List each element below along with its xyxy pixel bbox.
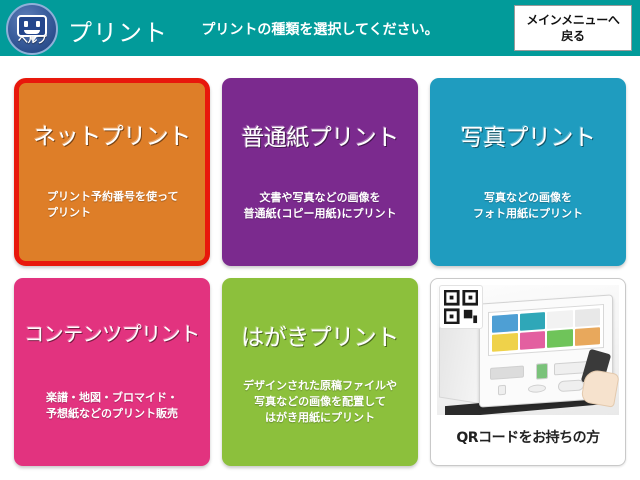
tile-plain-paper-print[interactable]: 普通紙プリント 文書や写真などの画像を 普通紙(コピー用紙)にプリント bbox=[222, 78, 418, 266]
back-button-line2: 戻る bbox=[561, 28, 584, 44]
kiosk-button bbox=[528, 384, 546, 393]
tile-content-print[interactable]: コンテンツプリント 楽譜・地図・ブロマイド・ 予想紙などのプリント販売 bbox=[14, 278, 210, 466]
tile-description: 文書や写真などの画像を 普通紙(コピー用紙)にプリント bbox=[230, 190, 410, 222]
tile-desc-line2: 予想紙などのプリント販売 bbox=[22, 406, 202, 422]
kiosk-screen-button bbox=[492, 314, 518, 333]
tile-description: 写真などの画像を フォト用紙にプリント bbox=[438, 190, 618, 222]
kiosk-screen-button bbox=[492, 333, 518, 352]
tile-qr-code-entry[interactable]: QRコードをお持ちの方 bbox=[430, 278, 626, 466]
tile-title: 普通紙プリント bbox=[222, 118, 418, 152]
tile-desc-line2: 普通紙(コピー用紙)にプリント bbox=[230, 206, 410, 222]
kiosk-button bbox=[498, 385, 506, 396]
kiosk-screen-button bbox=[547, 329, 573, 348]
tile-desc-line3: はがき用紙にプリント bbox=[230, 410, 410, 426]
tile-postcard-print[interactable]: はがきプリント デザインされた原稿ファイルや 写真などの画像を配置して はがき用… bbox=[222, 278, 418, 466]
kiosk-card-reader bbox=[536, 363, 548, 380]
tile-description: デザインされた原稿ファイルや 写真などの画像を配置して はがき用紙にプリント bbox=[230, 378, 410, 426]
kiosk-screen-button bbox=[520, 312, 546, 331]
tile-desc-line1: 文書や写真などの画像を bbox=[230, 190, 410, 206]
kiosk-screen-button bbox=[575, 327, 601, 346]
hand-holding-phone bbox=[577, 351, 617, 405]
tile-title: はがきプリント bbox=[222, 318, 418, 352]
back-button-line1: メインメニューへ bbox=[526, 12, 619, 28]
kiosk-screen-button bbox=[547, 310, 573, 329]
tile-title: 写真プリント bbox=[430, 118, 626, 152]
app-header: ヘルプ プリント プリントの種類を選択してください。 メインメニューへ 戻る bbox=[0, 0, 640, 58]
kiosk-touchscreen bbox=[488, 304, 604, 356]
tile-description: プリント予約番号を使って プリント bbox=[27, 189, 197, 221]
hand-shape bbox=[580, 368, 619, 407]
tile-desc-line2: 写真などの画像を配置して bbox=[230, 394, 410, 410]
kiosk-screen-button bbox=[575, 308, 601, 327]
tile-net-print[interactable]: ネットプリント プリント予約番号を使って プリント bbox=[14, 78, 210, 266]
tile-desc-line1: プリント予約番号を使って bbox=[47, 189, 197, 205]
tile-desc-line1: 写真などの画像を bbox=[438, 190, 618, 206]
qr-card-caption: QRコードをお持ちの方 bbox=[431, 427, 625, 447]
kiosk-screen-button bbox=[520, 331, 546, 350]
tile-title: コンテンツプリント bbox=[14, 318, 210, 347]
qr-code-icon bbox=[439, 285, 483, 329]
tile-description: 楽譜・地図・ブロマイド・ 予想紙などのプリント販売 bbox=[22, 390, 202, 422]
tile-desc-line2: プリント bbox=[47, 205, 197, 221]
back-to-main-menu-button[interactable]: メインメニューへ 戻る bbox=[514, 5, 632, 51]
kiosk-paper-slot bbox=[490, 366, 524, 380]
print-type-grid: ネットプリント プリント予約番号を使って プリント 普通紙プリント 文書や写真な… bbox=[14, 78, 626, 470]
tile-desc-line2: フォト用紙にプリント bbox=[438, 206, 618, 222]
tile-desc-line1: 楽譜・地図・ブロマイド・ bbox=[22, 390, 202, 406]
tile-title: ネットプリント bbox=[19, 117, 205, 151]
print-type-selection-screen: ヘルプ プリント プリントの種類を選択してください。 メインメニューへ 戻る ネ… bbox=[0, 0, 640, 480]
tile-photo-print[interactable]: 写真プリント 写真などの画像を フォト用紙にプリント bbox=[430, 78, 626, 266]
tile-desc-line1: デザインされた原稿ファイルや bbox=[230, 378, 410, 394]
